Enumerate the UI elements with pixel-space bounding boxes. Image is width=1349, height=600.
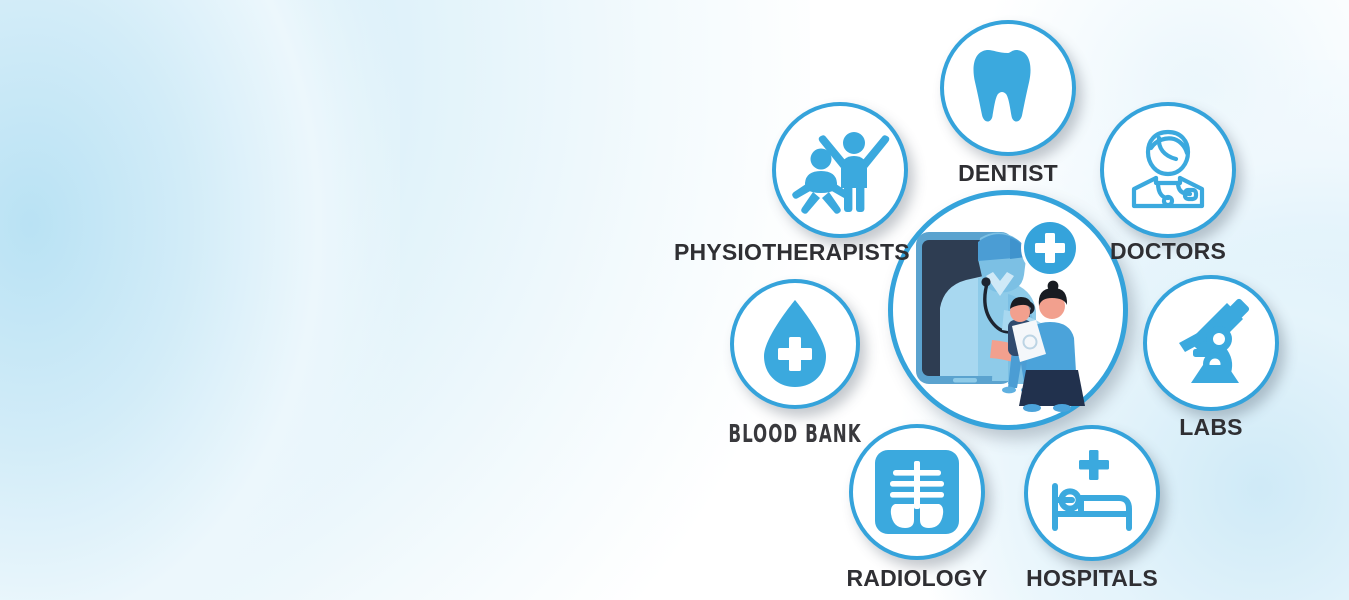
background-wash-left-edge <box>0 0 400 600</box>
node-bloodbank-circle[interactable] <box>730 279 860 409</box>
mother-skirt <box>1019 370 1085 406</box>
hospital-bed-icon <box>1045 448 1139 538</box>
node-dentist-label: DENTIST <box>908 160 1108 187</box>
doctor-icon <box>1122 126 1214 214</box>
node-doctors-label: DOCTORS <box>1068 238 1268 265</box>
node-labs-circle[interactable] <box>1143 275 1279 411</box>
microscope-icon <box>1165 297 1257 389</box>
telemedicine-illustration <box>900 202 1116 418</box>
xray-ribcage-icon <box>873 448 961 536</box>
node-labs-label: LABS <box>1111 414 1311 441</box>
node-hospitals-label: HOSPITALS <box>992 565 1192 592</box>
node-hospitals-circle[interactable] <box>1024 425 1160 561</box>
infographic-canvas: DENTIST DOCTORS <box>0 0 1349 600</box>
node-radiology-label: RADIOLOGY <box>817 565 1017 592</box>
node-physiotherapists-circle[interactable] <box>772 102 908 238</box>
node-bloodbank-label: BLOOD BANK <box>721 419 869 448</box>
phone-home-bar <box>953 378 977 383</box>
mother-bun <box>1048 281 1059 292</box>
node-radiology-circle[interactable] <box>849 424 985 560</box>
node-doctors-circle[interactable] <box>1100 102 1236 238</box>
center-telemedicine-circle[interactable] <box>888 190 1128 430</box>
tooth-icon <box>965 45 1051 131</box>
node-dentist-circle[interactable] <box>940 20 1076 156</box>
node-physiotherapists-label: PHYSIOTHERAPISTS <box>674 239 886 266</box>
physiotherapy-icon <box>792 126 888 214</box>
blood-drop-icon <box>756 297 834 391</box>
